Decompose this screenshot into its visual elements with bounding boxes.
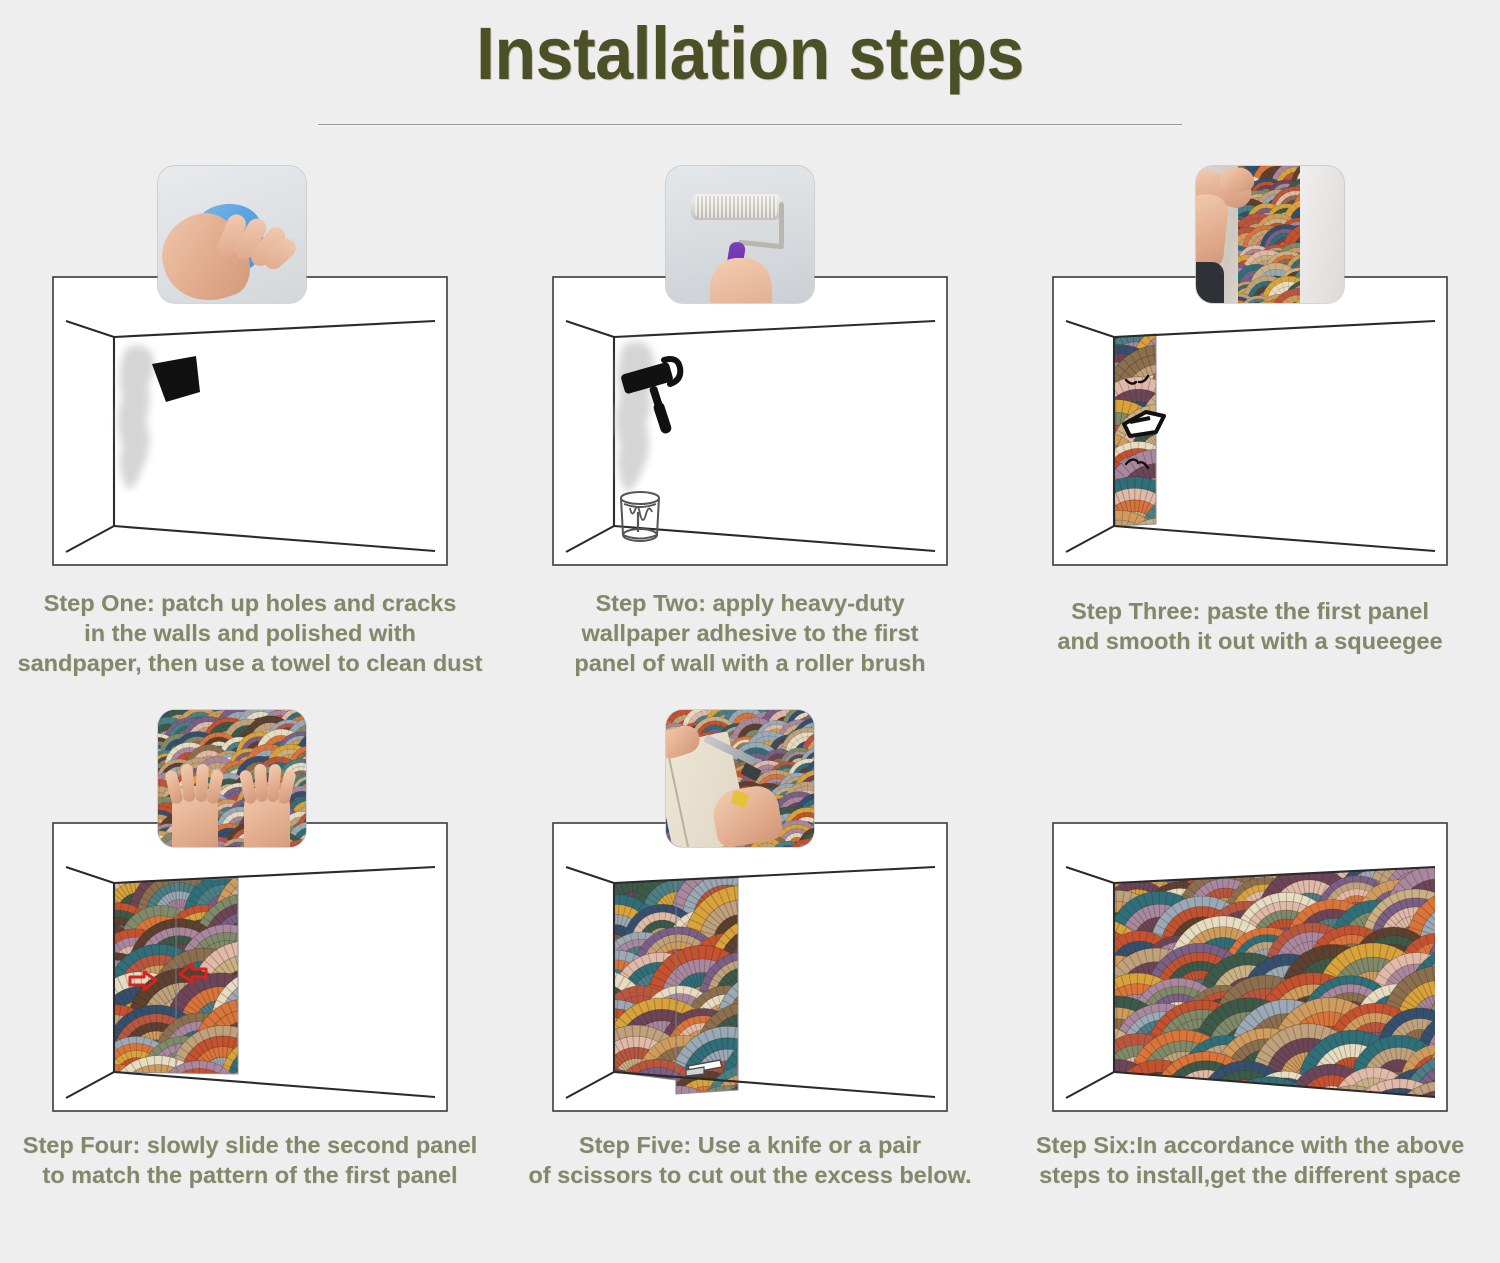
caption-step-three: Step Three: paste the first panel and sm… (1000, 596, 1500, 656)
step-card-two: Step Two: apply heavy-duty wallpaper adh… (500, 150, 1000, 695)
caption-step-two: Step Two: apply heavy-duty wallpaper adh… (500, 588, 1000, 678)
caption-line: in the walls and polished with (0, 618, 500, 648)
caption-step-six: Step Six:In accordance with the above st… (1000, 1130, 1500, 1190)
room-diagram-one (52, 276, 448, 566)
step-card-five: Step Five: Use a knife or a pair of scis… (500, 702, 1000, 1247)
step-card-one: Step One: patch up holes and cracks in t… (0, 150, 500, 695)
caption-step-four: Step Four: slowly slide the second panel… (0, 1130, 500, 1190)
thumbnail-hanging-first-panel (1196, 166, 1344, 303)
thumbnail-paint-roller (666, 166, 814, 303)
caption-line: Step Two: apply heavy-duty (500, 588, 1000, 618)
caption-line: Step Three: paste the first panel (1000, 596, 1500, 626)
caption-step-one: Step One: patch up holes and cracks in t… (0, 588, 500, 678)
steps-grid: Step One: patch up holes and cracks in t… (0, 150, 1500, 1250)
title-divider (318, 124, 1182, 126)
caption-line: sandpaper, then use a towel to clean dus… (0, 648, 500, 678)
caption-line: steps to install,get the different space (1000, 1160, 1500, 1190)
room-diagram-four (52, 822, 448, 1112)
page-title: Installation steps (60, 8, 1440, 100)
caption-step-five: Step Five: Use a knife or a pair of scis… (500, 1130, 1000, 1190)
thumbnail-hand-wiping-cloth (158, 166, 306, 303)
room-diagram-three (1052, 276, 1448, 566)
step-card-six: Step Six:In accordance with the above st… (1000, 702, 1500, 1247)
caption-line: wallpaper adhesive to the first (500, 618, 1000, 648)
caption-line: Step Five: Use a knife or a pair (500, 1130, 1000, 1160)
caption-line: panel of wall with a roller brush (500, 648, 1000, 678)
caption-line: Step Four: slowly slide the second panel (0, 1130, 500, 1160)
thumbnail-two-hands-smoothing (158, 710, 306, 847)
caption-line: of scissors to cut out the excess below. (500, 1160, 1000, 1190)
caption-line: to match the pattern of the first panel (0, 1160, 500, 1190)
step-card-three: Step Three: paste the first panel and sm… (1000, 150, 1500, 695)
step-card-four: Step Four: slowly slide the second panel… (0, 702, 500, 1247)
room-diagram-six (1052, 822, 1448, 1112)
room-diagram-two (552, 276, 948, 566)
thumbnail-knife-cutting (666, 710, 814, 847)
room-diagram-five (552, 822, 948, 1112)
caption-line: Step Six:In accordance with the above (1000, 1130, 1500, 1160)
caption-line: Step One: patch up holes and cracks (0, 588, 500, 618)
caption-line: and smooth it out with a squeegee (1000, 626, 1500, 656)
